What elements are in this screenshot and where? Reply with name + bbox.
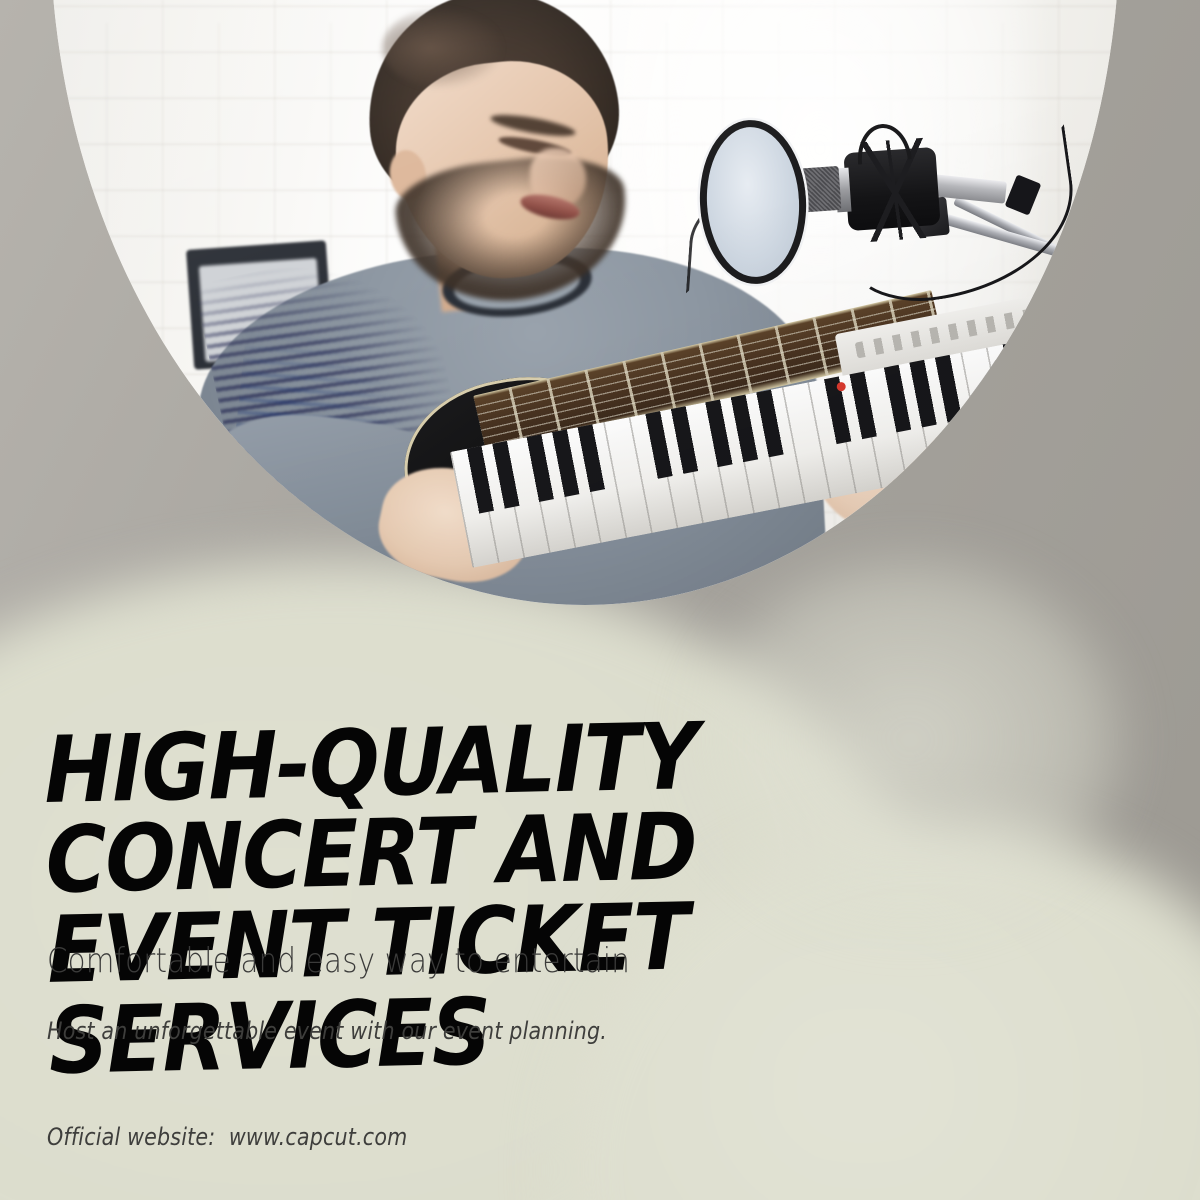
hero-photo-circle-mask (50, 0, 1120, 605)
subtitle: Comfortable and easy way to entertain (47, 941, 630, 981)
poster-canvas: HIGH-QUALITY CONCERT AND EVENT TICKET SE… (0, 0, 1200, 1200)
official-website-line[interactable]: Official website: www.capcut.com (47, 1123, 407, 1151)
headline-line-2: EVENT TICKET SERVICES (47, 886, 995, 1086)
page-title: HIGH-QUALITY CONCERT AND EVENT TICKET SE… (42, 616, 996, 1177)
hero-photo (50, 0, 1120, 605)
singer-hair-highlight (382, 8, 502, 88)
headline-line-1: HIGH-QUALITY CONCERT AND (43, 703, 698, 914)
tagline: Host an unforgettable event with our eve… (47, 1017, 607, 1045)
